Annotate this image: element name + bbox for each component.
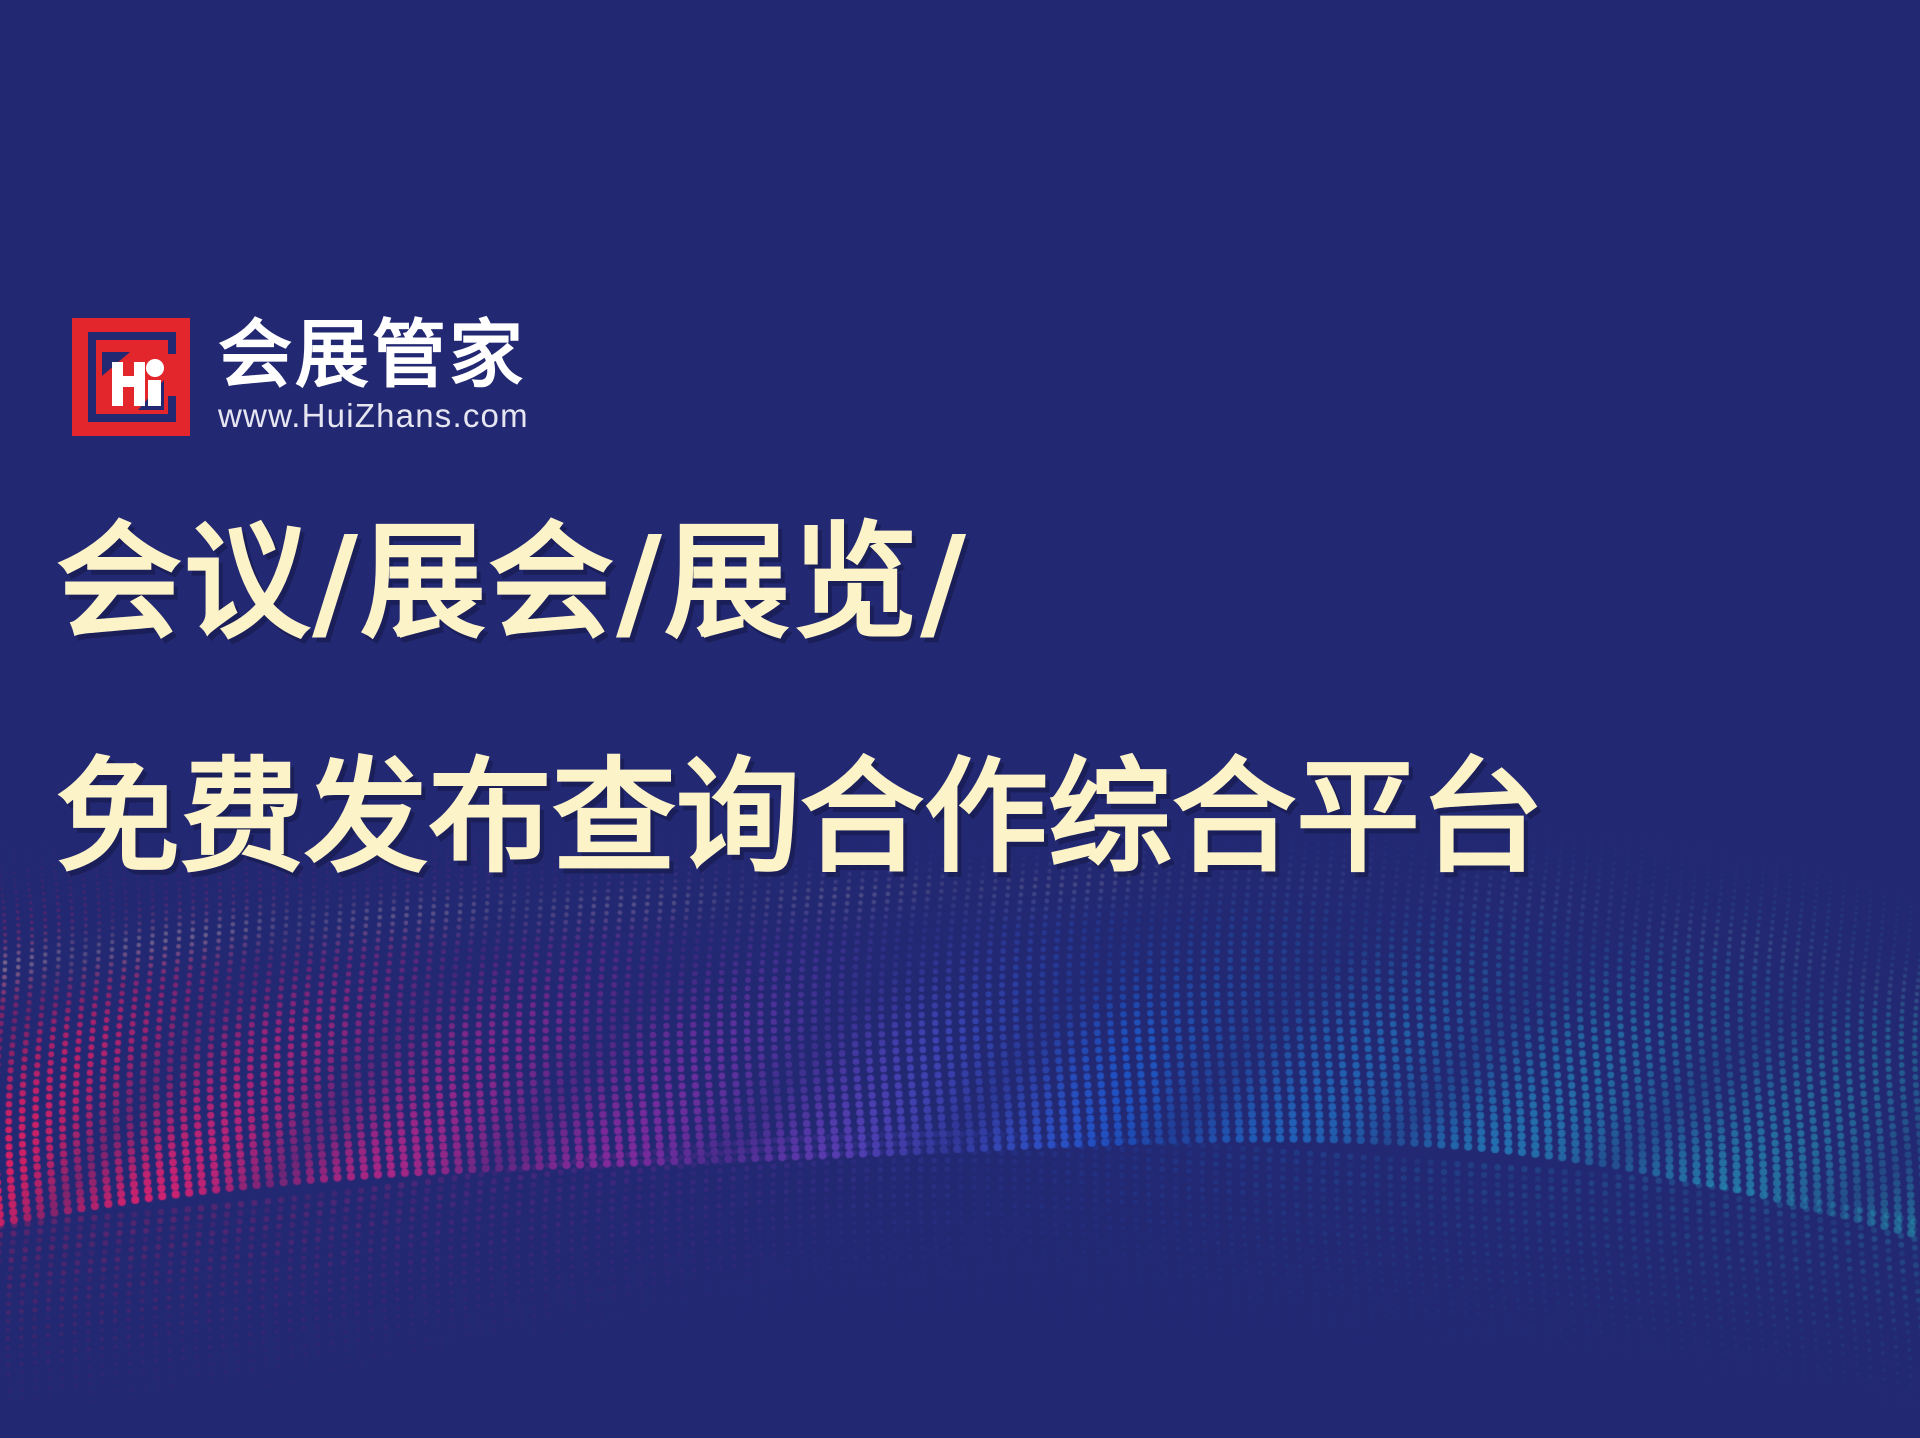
brand-logo-lockup[interactable]: 会展管家 www.HuiZhans.com [72,318,529,436]
brand-wordmark: 会展管家 www.HuiZhans.com [218,318,529,435]
huizhans-hi-mark-icon [72,318,190,436]
headline-line-2: 免费发布查询合作综合平台 [56,756,1856,880]
particle-wave-graphic [0,818,1920,1438]
headline-block: 会议/展会/展览/ 免费发布查询合作综合平台 [56,520,1856,880]
brand-website-url[interactable]: www.HuiZhans.com [218,397,529,435]
banner-canvas: 会展管家 www.HuiZhans.com 会议/展会/展览/ 免费发布查询合作… [0,0,1920,1438]
headline-line-1: 会议/展会/展览/ [56,520,1856,646]
brand-name-cn: 会展管家 [218,320,529,391]
